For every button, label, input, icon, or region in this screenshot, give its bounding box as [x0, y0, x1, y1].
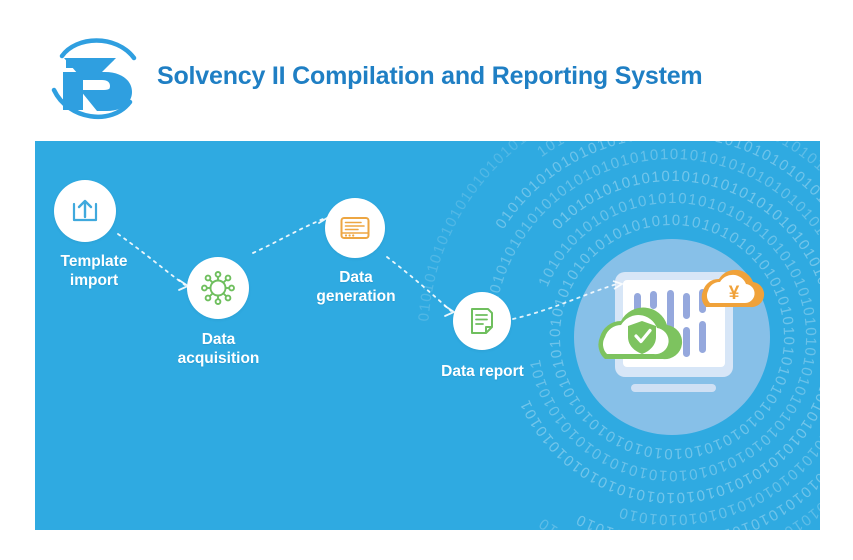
page-header: Solvency II Compilation and Reporting Sy…: [0, 0, 853, 141]
step-template-import-icon-circle[interactable]: [54, 180, 116, 242]
r-monogram-logo-icon: [42, 28, 146, 128]
hero-banner: 0101010101010101010101010101010101010101…: [35, 141, 820, 530]
step-data-acquisition-label: Data acquisition: [152, 331, 285, 369]
step-data-generation-icon-circle[interactable]: [325, 198, 385, 258]
step-template-import-label: Template import: [35, 253, 153, 291]
step-data-acquisition-icon-circle[interactable]: [187, 257, 249, 319]
page-root: Solvency II Compilation and Reporting Sy…: [0, 0, 853, 560]
page-title: Solvency II Compilation and Reporting Sy…: [157, 62, 702, 91]
step-data-report-label: Data report: [405, 363, 560, 382]
report-document-icon: [466, 305, 498, 337]
step-data-report-icon-circle[interactable]: [453, 292, 511, 350]
network-hub-icon: [200, 270, 236, 306]
connector-acquisition-to-generation: [253, 219, 323, 253]
step-data-generation-label: Data generation: [301, 269, 411, 307]
upload-icon: [68, 194, 102, 228]
window-document-icon: [338, 211, 372, 245]
